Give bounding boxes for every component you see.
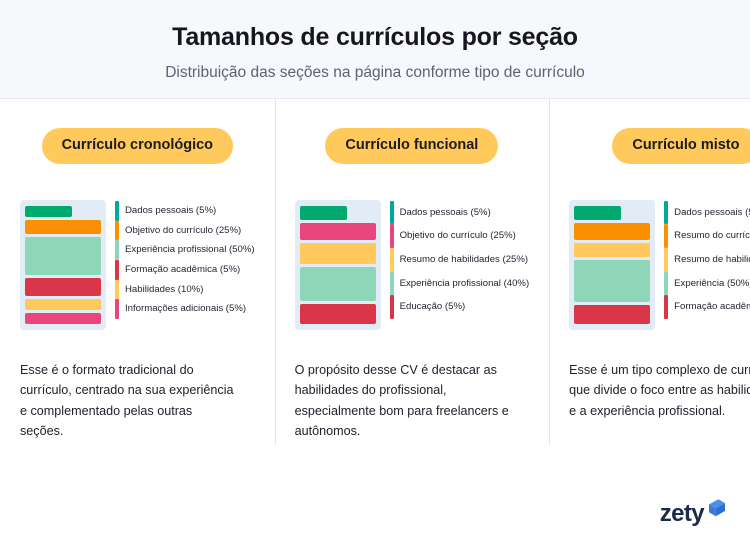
legend-label-formacao-academica: Formação acadêmica (5%) [125, 260, 255, 280]
legend-swatch-dados-pessoais [390, 201, 394, 225]
page-title: Tamanhos de currículos por seção [20, 22, 730, 52]
legend-label-dados-pessoais: Dados pessoais (5%) [125, 201, 255, 221]
section-bar-educacao [300, 304, 376, 324]
resume-type-badge-curriculo-misto[interactable]: Currículo misto [612, 128, 750, 164]
footer: zety [0, 493, 750, 543]
section-bar-experiencia-profissional [300, 267, 376, 301]
legend-swatch-experiencia [664, 272, 668, 296]
legend-swatch-habilidades [115, 280, 119, 300]
legend-curriculo-funcional: Dados pessoais (5%)Objetivo do currículo… [390, 200, 530, 319]
chart-area-curriculo-cronologico: Dados pessoais (5%)Objetivo do currículo… [20, 200, 255, 330]
legend-swatch-educacao [390, 295, 394, 319]
legend-label-educacao: Educação (5%) [400, 295, 530, 319]
legend-curriculo-cronologico: Dados pessoais (5%)Objetivo do currículo… [115, 200, 255, 319]
legend-swatch-strip [390, 201, 394, 319]
resume-page-mock-curriculo-cronologico [20, 200, 106, 330]
legend-curriculo-misto: Dados pessoais (5%)Resumo do currículo (… [664, 200, 750, 319]
zety-logo: zety [660, 497, 728, 531]
legend-labels: Dados pessoais (5%)Objetivo do currículo… [125, 201, 255, 319]
page-subtitle: Distribuição das seções na página confor… [20, 63, 730, 82]
zety-arrow-logo-icon [706, 497, 728, 524]
section-bar-informacoes-adicionais [25, 313, 101, 324]
legend-label-experiencia-profissional: Experiência profissional (50%) [125, 240, 255, 260]
chart-area-curriculo-misto: Dados pessoais (5%)Resumo do currículo (… [569, 200, 750, 330]
resume-description-curriculo-cronologico: Esse é o formato tradicional do currícul… [20, 360, 235, 442]
legend-label-informacoes-adicionais: Informações adicionais (5%) [125, 299, 255, 319]
legend-swatch-experiencia-profissional [115, 240, 119, 260]
legend-labels: Dados pessoais (5%)Resumo do currículo (… [674, 201, 750, 319]
legend-label-objetivo-do-curriculo: Objetivo do currículo (25%) [125, 221, 255, 241]
legend-label-objetivo-do-curriculo: Objetivo do currículo (25%) [400, 224, 530, 248]
legend-labels: Dados pessoais (5%)Objetivo do currículo… [400, 201, 530, 319]
legend-label-resumo-de-habilidades: Resumo de habilidades (15%) [674, 248, 750, 272]
legend-label-dados-pessoais: Dados pessoais (5%) [674, 201, 750, 225]
legend-swatch-formacao-academica [664, 295, 668, 319]
section-bar-dados-pessoais [300, 206, 347, 220]
legend-swatch-strip [115, 201, 119, 319]
legend-swatch-resumo-de-habilidades [390, 248, 394, 272]
legend-swatch-experiencia-profissional [390, 272, 394, 296]
legend-swatch-objetivo-do-curriculo [390, 224, 394, 248]
resume-description-curriculo-funcional: O propósito desse CV é destacar as habil… [295, 360, 510, 442]
resume-column-curriculo-cronologico: Currículo cronológicoDados pessoais (5%)… [0, 128, 275, 493]
legend-label-experiencia-profissional: Experiência profissional (40%) [400, 272, 530, 296]
badge-row: Currículo funcional [295, 128, 530, 164]
section-bar-resumo-do-curriculo [574, 223, 650, 240]
resume-type-badge-curriculo-cronologico[interactable]: Currículo cronológico [42, 128, 233, 164]
section-bar-objetivo-do-curriculo [25, 220, 101, 234]
section-bar-experiencia [574, 260, 650, 302]
legend-swatch-objetivo-do-curriculo [115, 221, 119, 241]
badge-row: Currículo cronológico [20, 128, 255, 164]
section-bar-experiencia-profissional [25, 237, 101, 275]
legend-swatch-resumo-de-habilidades [664, 248, 668, 272]
chart-area-curriculo-funcional: Dados pessoais (5%)Objetivo do currículo… [295, 200, 530, 330]
legend-label-resumo-de-habilidades: Resumo de habilidades (25%) [400, 248, 530, 272]
section-bar-resumo-de-habilidades [300, 243, 376, 264]
legend-label-dados-pessoais: Dados pessoais (5%) [400, 201, 530, 225]
section-bar-formacao-academica [25, 278, 101, 296]
legend-swatch-informacoes-adicionais [115, 299, 119, 319]
badge-row: Currículo misto [569, 128, 750, 164]
legend-label-formacao-academica: Formação acadêmica (5%) [674, 295, 750, 319]
section-bar-dados-pessoais [25, 206, 72, 217]
logo-wordmark: zety [660, 502, 704, 526]
section-bar-formacao-academica [574, 305, 650, 324]
legend-swatch-resumo-do-curriculo [664, 224, 668, 248]
section-bar-resumo-de-habilidades [574, 243, 650, 257]
legend-label-experiencia: Experiência (50%) [674, 272, 750, 296]
section-bar-dados-pessoais [574, 206, 621, 220]
section-bar-habilidades [25, 299, 101, 310]
legend-label-resumo-do-curriculo: Resumo do currículo (25%) [674, 224, 750, 248]
resume-column-curriculo-funcional: Currículo funcionalDados pessoais (5%)Ob… [275, 128, 550, 493]
legend-swatch-dados-pessoais [115, 201, 119, 221]
resume-page-mock-curriculo-funcional [295, 200, 381, 330]
infographic-root: Tamanhos de currículos por seção Distrib… [0, 0, 750, 543]
section-bar-objetivo-do-curriculo [300, 223, 376, 240]
legend-swatch-strip [664, 201, 668, 319]
legend-swatch-dados-pessoais [664, 201, 668, 225]
resume-page-mock-curriculo-misto [569, 200, 655, 330]
resume-column-curriculo-misto: Currículo mistoDados pessoais (5%)Resumo… [549, 128, 750, 493]
columns-container: Currículo cronológicoDados pessoais (5%)… [0, 99, 750, 493]
legend-swatch-formacao-academica [115, 260, 119, 280]
legend-label-habilidades: Habilidades (10%) [125, 280, 255, 300]
resume-type-badge-curriculo-funcional[interactable]: Currículo funcional [325, 128, 498, 164]
resume-description-curriculo-misto: Esse é um tipo complexo de currículo, qu… [569, 360, 750, 421]
header: Tamanhos de currículos por seção Distrib… [0, 0, 750, 99]
